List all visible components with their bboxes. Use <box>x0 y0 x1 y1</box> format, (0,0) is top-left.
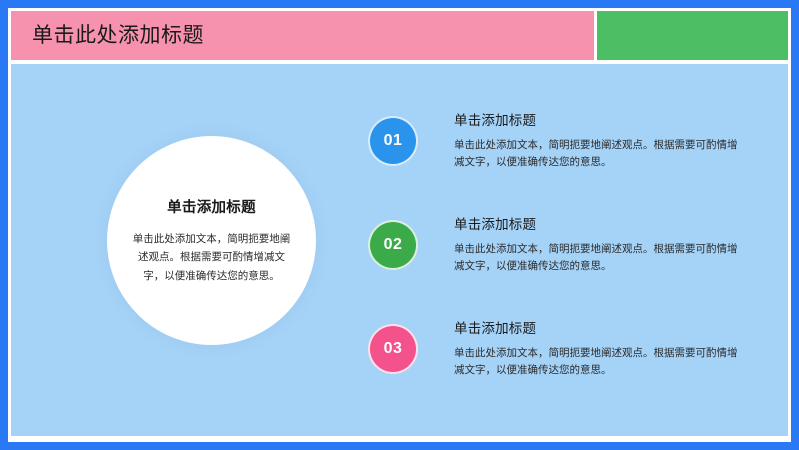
page-title: 单击此处添加标题 <box>32 25 204 46</box>
list-item-title: 单击添加标题 <box>454 109 768 129</box>
number-badge-02: 02 <box>368 220 418 270</box>
hero-circle[interactable]: 单击添加标题 单击此处添加文本，简明扼要地阐述观点。根据需要可酌情增减文字，以便… <box>107 136 316 345</box>
list-item-title: 单击添加标题 <box>454 317 768 337</box>
list-item-title: 单击添加标题 <box>454 213 768 233</box>
list-item-text: 单击添加标题 单击此处添加文本，简明扼要地阐述观点。根据需要可酌情增减文字，以便… <box>454 316 768 379</box>
list-item[interactable]: 03 单击添加标题 单击此处添加文本，简明扼要地阐述观点。根据需要可酌情增减文字… <box>368 316 768 392</box>
numbered-item-list: 01 单击添加标题 单击此处添加文本，简明扼要地阐述观点。根据需要可酌情增减文字… <box>368 108 768 392</box>
list-item[interactable]: 02 单击添加标题 单击此处添加文本，简明扼要地阐述观点。根据需要可酌情增减文字… <box>368 212 768 288</box>
slide-title-bar[interactable]: 单击此处添加标题 <box>11 11 594 60</box>
title-accent-block[interactable] <box>597 11 788 60</box>
slide-body-panel: 单击添加标题 单击此处添加文本，简明扼要地阐述观点。根据需要可酌情增减文字，以便… <box>11 64 788 436</box>
hero-title: 单击添加标题 <box>167 196 256 217</box>
list-item-description: 单击此处添加文本，简明扼要地阐述观点。根据需要可酌情增减文字，以便准确传达您的意… <box>454 137 744 171</box>
number-badge-01: 01 <box>368 116 418 166</box>
list-item-text: 单击添加标题 单击此处添加文本，简明扼要地阐述观点。根据需要可酌情增减文字，以便… <box>454 108 768 171</box>
list-item[interactable]: 01 单击添加标题 单击此处添加文本，简明扼要地阐述观点。根据需要可酌情增减文字… <box>368 108 768 184</box>
presentation-slide: 单击此处添加标题 单击添加标题 单击此处添加文本，简明扼要地阐述观点。根据需要可… <box>0 0 799 450</box>
number-badge-03: 03 <box>368 324 418 374</box>
list-item-text: 单击添加标题 单击此处添加文本，简明扼要地阐述观点。根据需要可酌情增减文字，以便… <box>454 212 768 275</box>
list-item-description: 单击此处添加文本，简明扼要地阐述观点。根据需要可酌情增减文字，以便准确传达您的意… <box>454 241 744 275</box>
list-item-description: 单击此处添加文本，简明扼要地阐述观点。根据需要可酌情增减文字，以便准确传达您的意… <box>454 345 744 379</box>
hero-body-text: 单击此处添加文本，简明扼要地阐述观点。根据需要可酌情增减文字，以便准确传达您的意… <box>129 230 294 284</box>
